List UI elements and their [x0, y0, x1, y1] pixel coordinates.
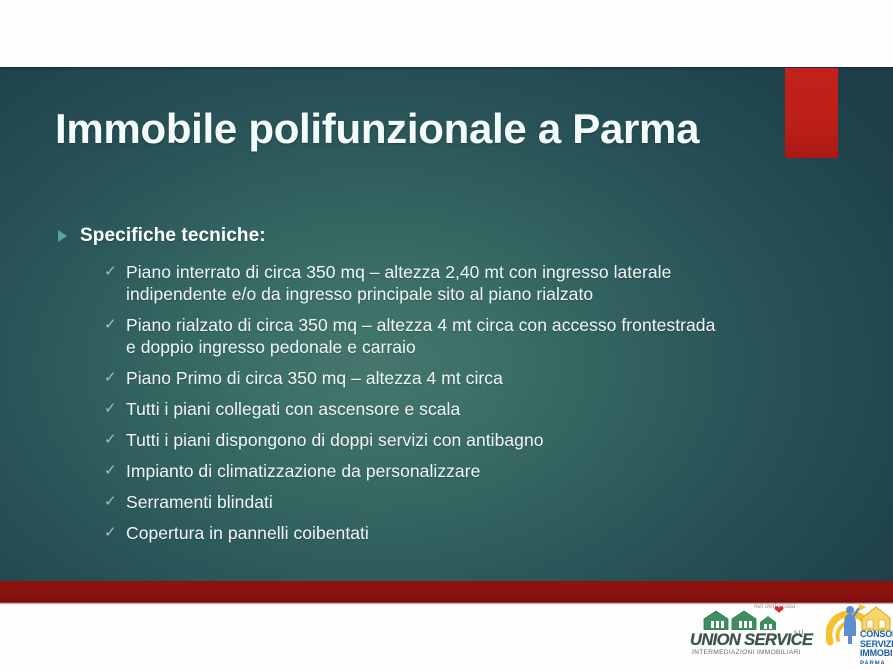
list-item: ✓ Impianto di climatizzazione da persona… [104, 460, 848, 482]
check-icon: ✓ [104, 429, 126, 451]
check-icon: ✓ [104, 261, 126, 283]
top-white-band [0, 0, 893, 67]
check-icon: ✓ [104, 314, 126, 336]
bottom-red-bar [0, 581, 893, 601]
check-icon: ✓ [104, 398, 126, 420]
check-icon: ✓ [104, 367, 126, 389]
list-item-text: Piano Primo di circa 350 mq – altezza 4 … [126, 367, 503, 389]
specifications-list: ✓ Piano interrato di circa 350 mq – alte… [58, 261, 848, 544]
list-item: ✓ Copertura in pannelli coibentati [104, 522, 848, 544]
list-item: ✓ Piano rialzato di circa 350 mq – altez… [104, 314, 848, 358]
consorzio-line-3: IMMOBI [860, 648, 892, 658]
list-item: ✓ Tutti i piani collegati con ascensore … [104, 398, 848, 420]
consorzio-line-4: PARMA [860, 660, 893, 665]
consorzio-line-2: SERVIZI [860, 639, 893, 649]
list-item: ✓ Serramenti blindati [104, 491, 848, 513]
logo-subtitle: INTERMEDIAZIONI IMMOBILIARI [692, 649, 801, 656]
section-heading: Specifiche tecniche: [80, 225, 266, 247]
list-item-text: Copertura in pannelli coibentati [126, 522, 369, 544]
check-icon: ✓ [104, 491, 126, 513]
list-item-text: Tutti i piani collegati con ascensore e … [126, 398, 460, 420]
list-item: ✓ Piano Primo di circa 350 mq – altezza … [104, 367, 848, 389]
consorzio-logo-text: CONSOR SERVIZI IMMOBI PARMA [860, 630, 893, 664]
list-item: ✓ Piano interrato di circa 350 mq – alte… [104, 261, 848, 305]
presentation-slide: Immobile polifunzionale a Parma Specific… [0, 0, 893, 670]
logo-suffix: s.r.l. [794, 630, 805, 636]
union-service-logo: nel della casa ❤ [688, 604, 816, 662]
triangle-bullet-icon [58, 225, 80, 244]
list-item-text: Piano rialzato di circa 350 mq – altezza… [126, 314, 726, 358]
consorzio-line-1: CONSOR [860, 629, 893, 639]
list-item-text: Piano interrato di circa 350 mq – altezz… [126, 261, 726, 305]
list-item-text: Serramenti blindati [126, 491, 273, 513]
check-icon: ✓ [104, 522, 126, 544]
check-icon: ✓ [104, 460, 126, 482]
consorzio-logo: CONSOR SERVIZI IMMOBI PARMA [826, 602, 893, 664]
list-item-text: Impianto di climatizzazione da personali… [126, 460, 480, 482]
page-title: Immobile polifunzionale a Parma [55, 105, 795, 153]
content-area: Specifiche tecniche: ✓ Piano interrato d… [58, 225, 848, 553]
list-item: ✓ Tutti i piani dispongono di doppi serv… [104, 429, 848, 451]
list-item-text: Tutti i piani dispongono di doppi serviz… [126, 429, 544, 451]
section-heading-row: Specifiche tecniche: [58, 225, 848, 247]
